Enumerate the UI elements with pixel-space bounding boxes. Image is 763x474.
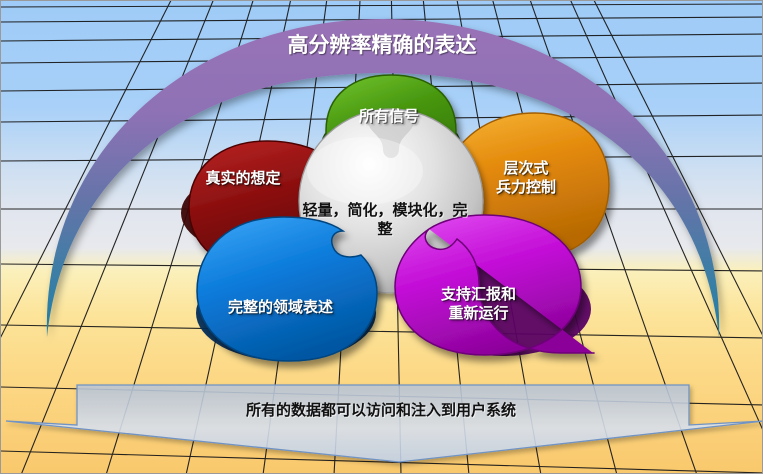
bottom-chevron-banner [1, 1, 763, 474]
slide-canvas: 高分辨率精确的表达 所有信号 层次式 兵力控制 真实的想定 完整的领域表述 支持… [0, 0, 763, 474]
